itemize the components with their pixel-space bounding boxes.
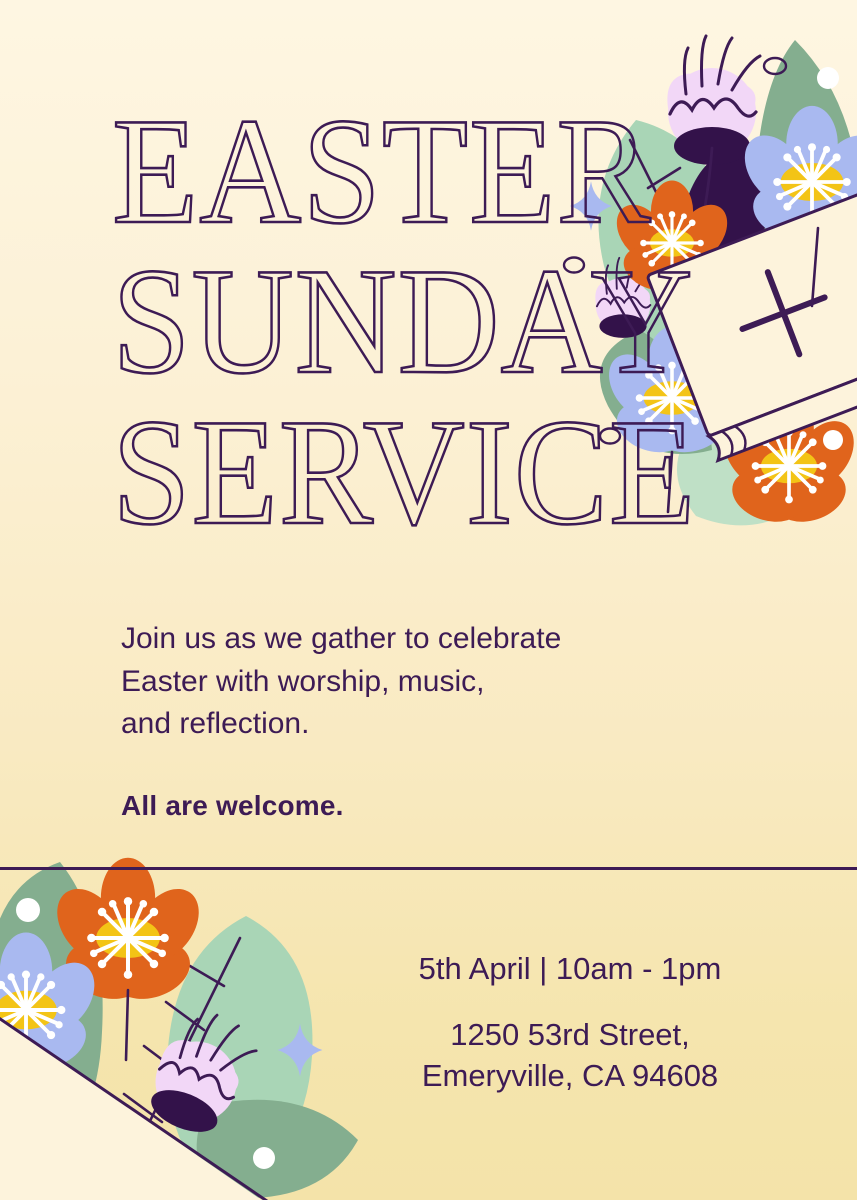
easter-sunday-service-poster: EASTER SUNDAY SERVICE Join us as we gath… bbox=[0, 0, 857, 1200]
invitation-line-3: and reflection. bbox=[121, 703, 721, 746]
title-line-1: EASTER bbox=[112, 96, 596, 246]
event-datetime: 5th April | 10am - 1pm bbox=[330, 950, 810, 987]
invitation-text: Join us as we gather to celebrate Easter… bbox=[121, 618, 721, 746]
event-details: 5th April | 10am - 1pm 1250 53rd Street,… bbox=[330, 950, 810, 1097]
title-line-2: SUNDAY bbox=[112, 246, 596, 396]
welcome-note: All are welcome. bbox=[121, 790, 344, 822]
address-line-1: 1250 53rd Street, bbox=[450, 1017, 690, 1052]
address-line-2: Emeryville, CA 94608 bbox=[422, 1058, 718, 1093]
poster-title: EASTER SUNDAY SERVICE bbox=[112, 96, 632, 547]
title-line-3: SERVICE bbox=[112, 397, 596, 547]
invitation-line-2: Easter with worship, music, bbox=[121, 661, 721, 704]
section-divider bbox=[0, 867, 857, 870]
event-address: 1250 53rd Street, Emeryville, CA 94608 bbox=[330, 1015, 810, 1097]
invitation-line-1: Join us as we gather to celebrate bbox=[121, 618, 721, 661]
